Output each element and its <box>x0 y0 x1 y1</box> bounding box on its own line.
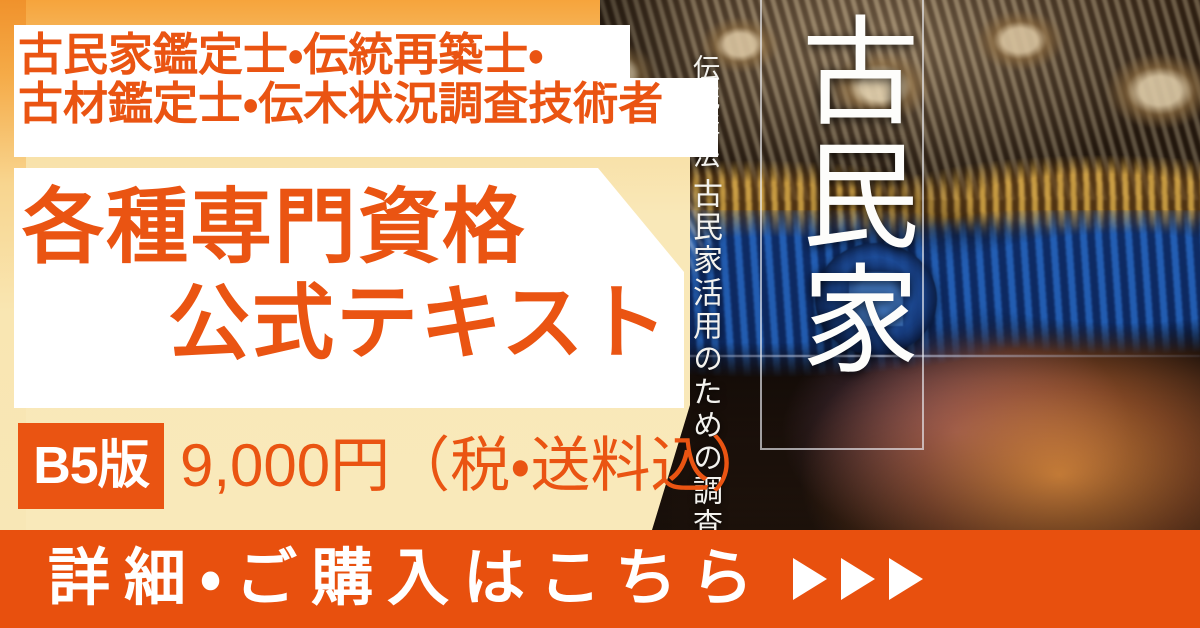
price-text: 9,000円（税・送料込） <box>180 432 771 500</box>
cta-arrow-group <box>793 558 923 600</box>
triangle-right-icon <box>889 558 923 600</box>
format-badge-label: B5版 <box>33 440 148 492</box>
triangle-right-icon <box>793 558 827 600</box>
cta-label: 詳細・ご購入はこちら <box>48 548 767 610</box>
qualification-heading: 古民家鑑定士・伝統再築士・ 古材鑑定士・伝木状況調査技術者 <box>18 30 718 128</box>
promo-banner: 古民家 伝統構法 古民家活用のための調査と再生の 古民家鑑定士・伝統再築士・ 古… <box>0 0 1200 628</box>
triangle-right-icon <box>841 558 875 600</box>
qualification-heading-line1: 古民家鑑定士・伝統再築士・ <box>18 30 718 79</box>
qualification-heading-line2: 古材鑑定士・伝木状況調査技術者 <box>18 79 718 128</box>
format-badge: B5版 <box>18 423 164 509</box>
cover-title: 古民家 <box>770 10 916 382</box>
cta-bar[interactable]: 詳細・ご購入はこちら <box>0 530 1200 628</box>
main-title-line2: 公式テキスト <box>168 276 670 372</box>
main-title-line1: 各種専門資格 <box>22 180 526 276</box>
